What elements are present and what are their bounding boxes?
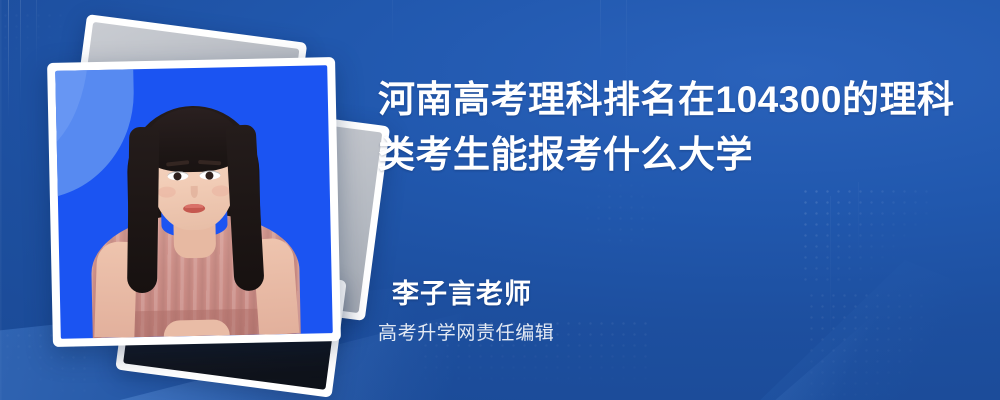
- author-role: 高考升学网责任编辑: [378, 318, 554, 345]
- text-column: 河南高考理科排名在104300的理科 类考生能报考什么大学 李子言老师 高考升学…: [376, 0, 986, 400]
- portrait-pupil-right: [205, 172, 213, 180]
- author-portrait-photo: [55, 65, 333, 339]
- article-cover-banner: 河南高考理科排名在104300的理科 类考生能报考什么大学 李子言老师 高考升学…: [0, 0, 1000, 400]
- article-title-line-1: 河南高考理科排名在104300的理科: [378, 72, 978, 127]
- article-title: 河南高考理科排名在104300的理科 类考生能报考什么大学: [378, 72, 978, 182]
- portrait-lips-highlight: [185, 204, 203, 208]
- portrait-illustration: [55, 65, 333, 339]
- portrait-hands: [163, 319, 229, 336]
- portrait-nose: [191, 186, 198, 198]
- author-name: 李子言老师: [392, 272, 532, 311]
- portrait-hair-strand-left: [127, 127, 159, 293]
- photo-card-stack: [50, 28, 350, 368]
- article-title-line-2: 类考生能报考什么大学: [378, 127, 978, 182]
- photo-card-front: [47, 57, 341, 347]
